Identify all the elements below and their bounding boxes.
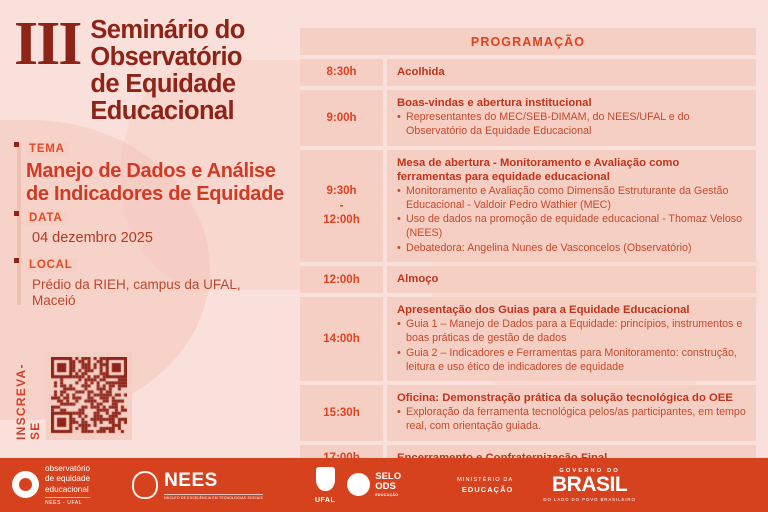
mec-line-1: MINISTÉRIO DA xyxy=(457,477,513,483)
schedule-row-time: 15:30h xyxy=(300,385,383,440)
observatorio-line-2: de equidade xyxy=(45,474,90,485)
local-label: LOCAL xyxy=(26,258,78,272)
tema-group: TEMA Manejo de Dados e Análise de Indica… xyxy=(26,139,284,206)
schedule-rows: 8:30hAcolhida9:00hBoas-vindas e abertura… xyxy=(300,59,756,472)
schedule-row-item: Representantes do MEC/SEB-DIMAM, do NEES… xyxy=(397,111,746,138)
page-title: Seminário do Observatório de Equidade Ed… xyxy=(90,14,244,125)
logo-ministerio-educacao: MINISTÉRIO DA EDUCAÇÃO xyxy=(457,477,513,494)
schedule-row-description: Boas-vindas e abertura institucionalRepr… xyxy=(387,90,756,145)
edition-numeral: III xyxy=(14,16,80,73)
governo-tagline: DO LADO DO POVO BRASILEIRO xyxy=(543,497,635,502)
observatorio-eye-icon xyxy=(12,471,39,498)
logo-ufal: UFAL xyxy=(315,467,335,504)
data-group: DATA 04 dezembro 2025 xyxy=(26,208,284,247)
ods-wordmark: SELO ODS EDUCAÇÃO xyxy=(375,472,401,498)
square-marker-icon xyxy=(14,142,19,147)
observatorio-line-3: educacional xyxy=(45,485,90,496)
schedule-row-description: Oficina: Demonstração prática da solução… xyxy=(387,385,756,440)
schedule-row-items: Representantes do MEC/SEB-DIMAM, do NEES… xyxy=(397,111,746,138)
local-value: Prédio da RIEH, campus da UFAL, Maceió xyxy=(32,277,284,309)
inscreva-se-label: INSCREVA-SE xyxy=(14,352,42,440)
tema-label: TEMA xyxy=(26,142,70,156)
title-line-1: Seminário do xyxy=(90,17,244,44)
ufal-wordmark: UFAL xyxy=(315,497,335,504)
schedule-row-description: Apresentação dos Guias para a Equidade E… xyxy=(387,297,756,381)
ods-line-2: ODS xyxy=(375,482,401,492)
schedule-row-description: Mesa de abertura - Monitoramento e Avali… xyxy=(387,150,756,263)
governo-wordmark: BRASIL xyxy=(552,475,627,496)
qr-code[interactable] xyxy=(46,352,132,440)
observatorio-wordmark: observatório de equidade educacional NEE… xyxy=(45,464,90,507)
schedule-row-item: Debatedora: Angelina Nunes de Vasconcelo… xyxy=(397,242,746,256)
rail-line xyxy=(17,143,21,305)
observatorio-line-1: observatório xyxy=(45,464,90,475)
title-block: III Seminário do Observatório de Equidad… xyxy=(14,14,284,125)
schedule-row-items: Monitoramento e Avaliação como Dimensão … xyxy=(397,185,746,255)
square-marker-icon xyxy=(14,258,19,263)
registration-qr-area[interactable]: INSCREVA-SE xyxy=(14,352,132,440)
ufal-crest-icon xyxy=(316,467,335,491)
local-group: LOCAL Prédio da RIEH, campus da UFAL, Ma… xyxy=(26,255,284,309)
logo-selo-ods: SELO ODS EDUCAÇÃO xyxy=(347,472,401,498)
schedule-row-item: Monitoramento e Avaliação como Dimensão … xyxy=(397,185,746,212)
schedule-row-item: Uso de dados na promoção de equidade edu… xyxy=(397,213,746,240)
schedule-row-time: 8:30h xyxy=(300,59,383,86)
schedule-row-time: 14:00h xyxy=(300,297,383,381)
schedule-row-title: Almoço xyxy=(397,272,746,286)
schedule-row-description: Acolhida xyxy=(387,59,756,86)
schedule-row-time: 12:00h xyxy=(300,266,383,293)
mec-line-2: EDUCAÇÃO xyxy=(462,485,514,494)
schedule-row-title: Mesa de abertura - Monitoramento e Avali… xyxy=(397,156,746,184)
ods-wheel-icon xyxy=(347,473,370,496)
schedule-row: 12:00hAlmoço xyxy=(300,266,756,293)
logo-observatorio: observatório de equidade educacional NEE… xyxy=(12,464,90,507)
schedule-row-time: 9:30h-12:00h xyxy=(300,150,383,263)
title-line-3: de Equidade xyxy=(90,71,244,98)
schedule-row-title: Oficina: Demonstração prática da solução… xyxy=(397,391,746,405)
nees-tagline: NÚCLEO DE EXCELÊNCIA EM TECNOLOGIAS SOCI… xyxy=(164,494,263,501)
schedule-header: PROGRAMAÇÃO xyxy=(300,28,756,55)
schedule-row-item: Guia 1 – Manejo de Dados para a Equidade… xyxy=(397,318,746,345)
left-info-panel: III Seminário do Observatório de Equidad… xyxy=(0,0,296,458)
footer-logo-bar: observatório de equidade educacional NEE… xyxy=(0,458,768,512)
schedule-row-title: Boas-vindas e abertura institucional xyxy=(397,96,746,110)
title-line-4: Educacional xyxy=(90,98,244,125)
schedule-row-items: Exploração da ferramenta tecnológica pel… xyxy=(397,406,746,433)
schedule-table: PROGRAMAÇÃO 8:30hAcolhida9:00hBoas-vinda… xyxy=(300,28,756,472)
schedule-row-items: Guia 1 – Manejo de Dados para a Equidade… xyxy=(397,318,746,374)
schedule-row: 9:00hBoas-vindas e abertura instituciona… xyxy=(300,90,756,145)
data-label: DATA xyxy=(26,211,67,225)
square-marker-icon xyxy=(14,211,19,216)
schedule-row-item: Exploração da ferramenta tecnológica pel… xyxy=(397,406,746,433)
ods-sub: EDUCAÇÃO xyxy=(375,494,401,498)
logo-nees: NEES NÚCLEO DE EXCELÊNCIA EM TECNOLOGIAS… xyxy=(132,470,263,501)
title-line-2: Observatório xyxy=(90,44,244,71)
qr-canvas[interactable] xyxy=(51,357,127,435)
logo-governo-brasil: GOVERNO DO BRASIL DO LADO DO POVO BRASIL… xyxy=(543,468,635,502)
schedule-row-item: Guia 2 – Indicadores e Ferramentas para … xyxy=(397,347,746,374)
schedule-row: 15:30hOficina: Demonstração prática da s… xyxy=(300,385,756,440)
schedule-row: 8:30hAcolhida xyxy=(300,59,756,86)
observatorio-sub: NEES - UFAL xyxy=(45,497,90,506)
schedule-row-title: Apresentação dos Guias para a Equidade E… xyxy=(397,303,746,317)
tema-value: Manejo de Dados e Análise de Indicadores… xyxy=(26,160,284,206)
schedule-row-time: 9:00h xyxy=(300,90,383,145)
info-rail: TEMA Manejo de Dados e Análise de Indica… xyxy=(14,139,284,309)
schedule-row-title: Acolhida xyxy=(397,65,746,79)
schedule-row-description: Almoço xyxy=(387,266,756,293)
nees-wordmark: NEES xyxy=(164,470,263,492)
nees-head-icon xyxy=(132,471,158,499)
schedule-row: 9:30h-12:00hMesa de abertura - Monitoram… xyxy=(300,150,756,263)
schedule-row: 14:00hApresentação dos Guias para a Equi… xyxy=(300,297,756,381)
event-poster: III Seminário do Observatório de Equidad… xyxy=(0,0,768,512)
data-value: 04 dezembro 2025 xyxy=(32,230,284,247)
